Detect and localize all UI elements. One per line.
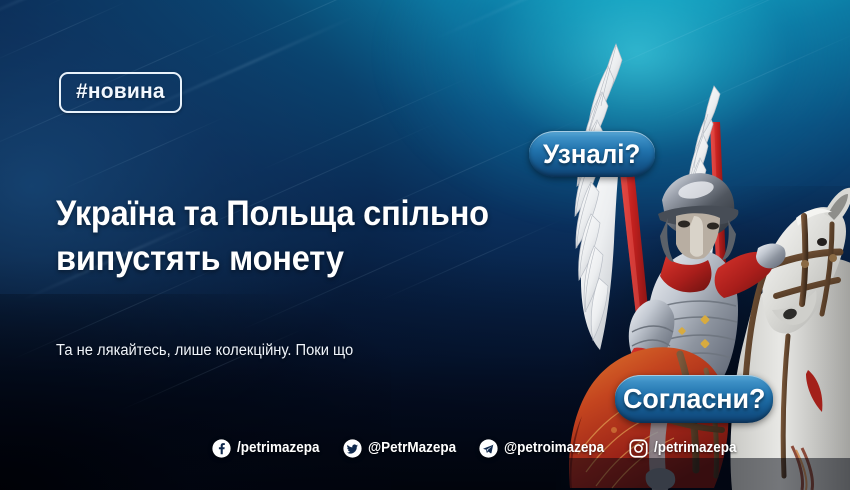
speech-bubble-uznali: Узналі? <box>529 131 655 177</box>
social-links-bar: /petrimazepa @PetrMazepa @petroimazepa <box>212 434 743 462</box>
social-link-instagram-label: /petrimazepa <box>654 440 736 456</box>
social-link-twitter-label: @PetrMazepa <box>368 440 456 456</box>
instagram-icon <box>629 439 648 458</box>
news-card-canvas: #новина Україна та Польща спільно випуст… <box>0 0 850 490</box>
social-link-twitter[interactable]: @PetrMazepa <box>343 439 463 458</box>
social-link-telegram[interactable]: @petroimazepa <box>479 439 612 458</box>
social-link-facebook-label: /petrimazepa <box>237 440 319 456</box>
social-link-telegram-label: @petroimazepa <box>504 440 604 456</box>
hashtag-badge[interactable]: #новина <box>59 72 182 113</box>
social-link-facebook[interactable]: /petrimazepa <box>212 439 326 458</box>
speech-bubble-soglasni: Согласни? <box>615 375 773 423</box>
telegram-icon <box>479 439 498 458</box>
speech-bubble-soglasni-label: Согласни? <box>623 383 766 415</box>
subtitle: Та не лякайтесь, лише колекційну. Поки щ… <box>56 341 474 361</box>
page-title: Україна та Польща спільно випустять моне… <box>56 192 493 282</box>
speech-bubble-uznali-label: Узналі? <box>543 139 640 170</box>
social-link-instagram[interactable]: /petrimazepa <box>629 439 743 458</box>
facebook-icon <box>212 439 231 458</box>
twitter-icon <box>343 439 362 458</box>
